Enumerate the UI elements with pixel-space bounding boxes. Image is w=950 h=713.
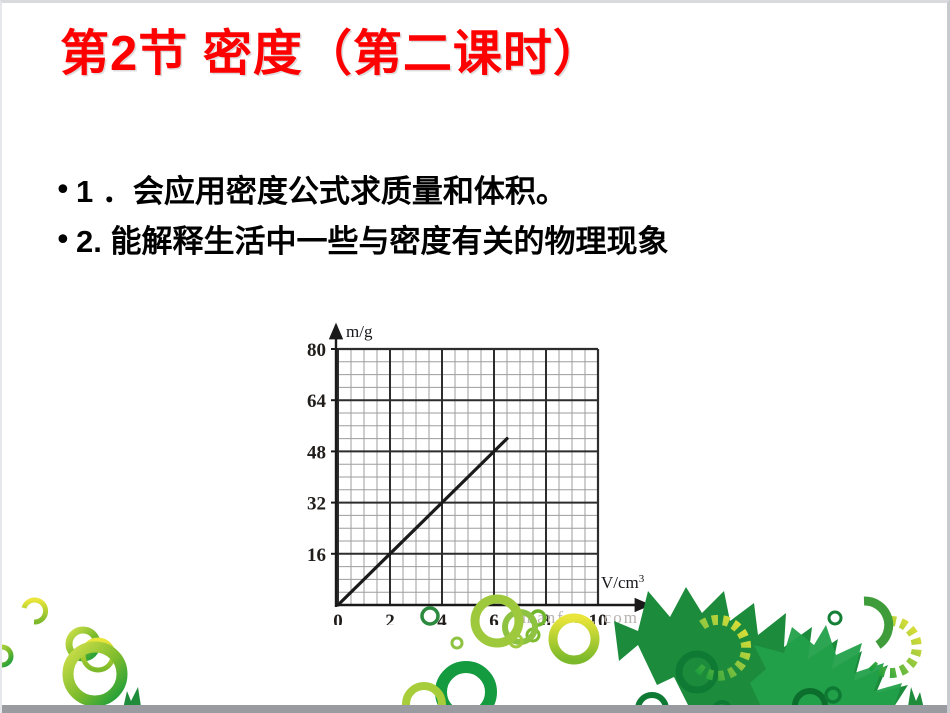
ring-icon — [829, 612, 841, 624]
page-title: 第2节 密度（第二课时） — [60, 29, 603, 80]
y-tick-label: 64 — [307, 391, 327, 412]
y-tick-labels: 1632486480 — [307, 340, 327, 566]
objectives-list: • 1 ．会应用密度公式求质量和体积。 • 2. 能解释生活中一些与密度有关的物… — [54, 171, 854, 271]
slide-canvas: 第2节 密度（第二课时） • 1 ．会应用密度公式求质量和体积。 • 2. 能解… — [0, 0, 950, 713]
bottom-bar — [2, 705, 950, 713]
arc-icon — [696, 620, 746, 676]
watermark-text: manfen . com — [522, 608, 639, 625]
x-tick-label: 0 — [333, 611, 343, 625]
ring-icon — [527, 629, 539, 641]
leaf-blob — [698, 643, 778, 713]
list-item-text: 2. 能解释生活中一些与密度有关的物理现象 — [76, 221, 668, 262]
x-tick-label: 4 — [437, 611, 447, 625]
list-item-text: 1 ．会应用密度公式求质量和体积。 — [76, 171, 567, 212]
ring-icon — [24, 600, 46, 622]
y-tick-label: 32 — [307, 494, 326, 515]
bullet-marker-icon: • — [54, 221, 76, 261]
ring-icon — [2, 647, 11, 665]
mass-volume-graph: 1632486480 0246810 m/g V/cm3 manfen . co… — [284, 315, 664, 625]
y-tick-label: 16 — [307, 545, 326, 566]
y-axis-label: m/g — [346, 322, 373, 341]
x-tick-label: 6 — [489, 611, 499, 625]
y-tick-label: 80 — [307, 340, 326, 361]
data-series-line — [338, 439, 507, 605]
ring-icon — [69, 630, 97, 658]
ring-icon — [679, 654, 715, 690]
ring-icon — [510, 635, 522, 647]
x-axis-label: V/cm3 — [601, 573, 645, 592]
arc-icon — [864, 601, 889, 645]
x-tick-label: 2 — [385, 611, 395, 625]
maple-leaf-highlight — [750, 625, 902, 713]
y-tick-label: 48 — [307, 442, 326, 463]
bullet-marker-icon: • — [54, 171, 76, 211]
ring-icon — [83, 640, 113, 670]
ring-icon — [68, 647, 122, 701]
graph-svg: 1632486480 0246810 m/g V/cm3 manfen . co… — [284, 315, 664, 625]
list-item: • 1 ．会应用密度公式求质量和体积。 — [54, 171, 854, 212]
arc-icon — [872, 621, 917, 673]
ring-icon — [452, 638, 462, 648]
ring-icon — [826, 688, 840, 702]
list-item: • 2. 能解释生活中一些与密度有关的物理现象 — [54, 221, 854, 262]
